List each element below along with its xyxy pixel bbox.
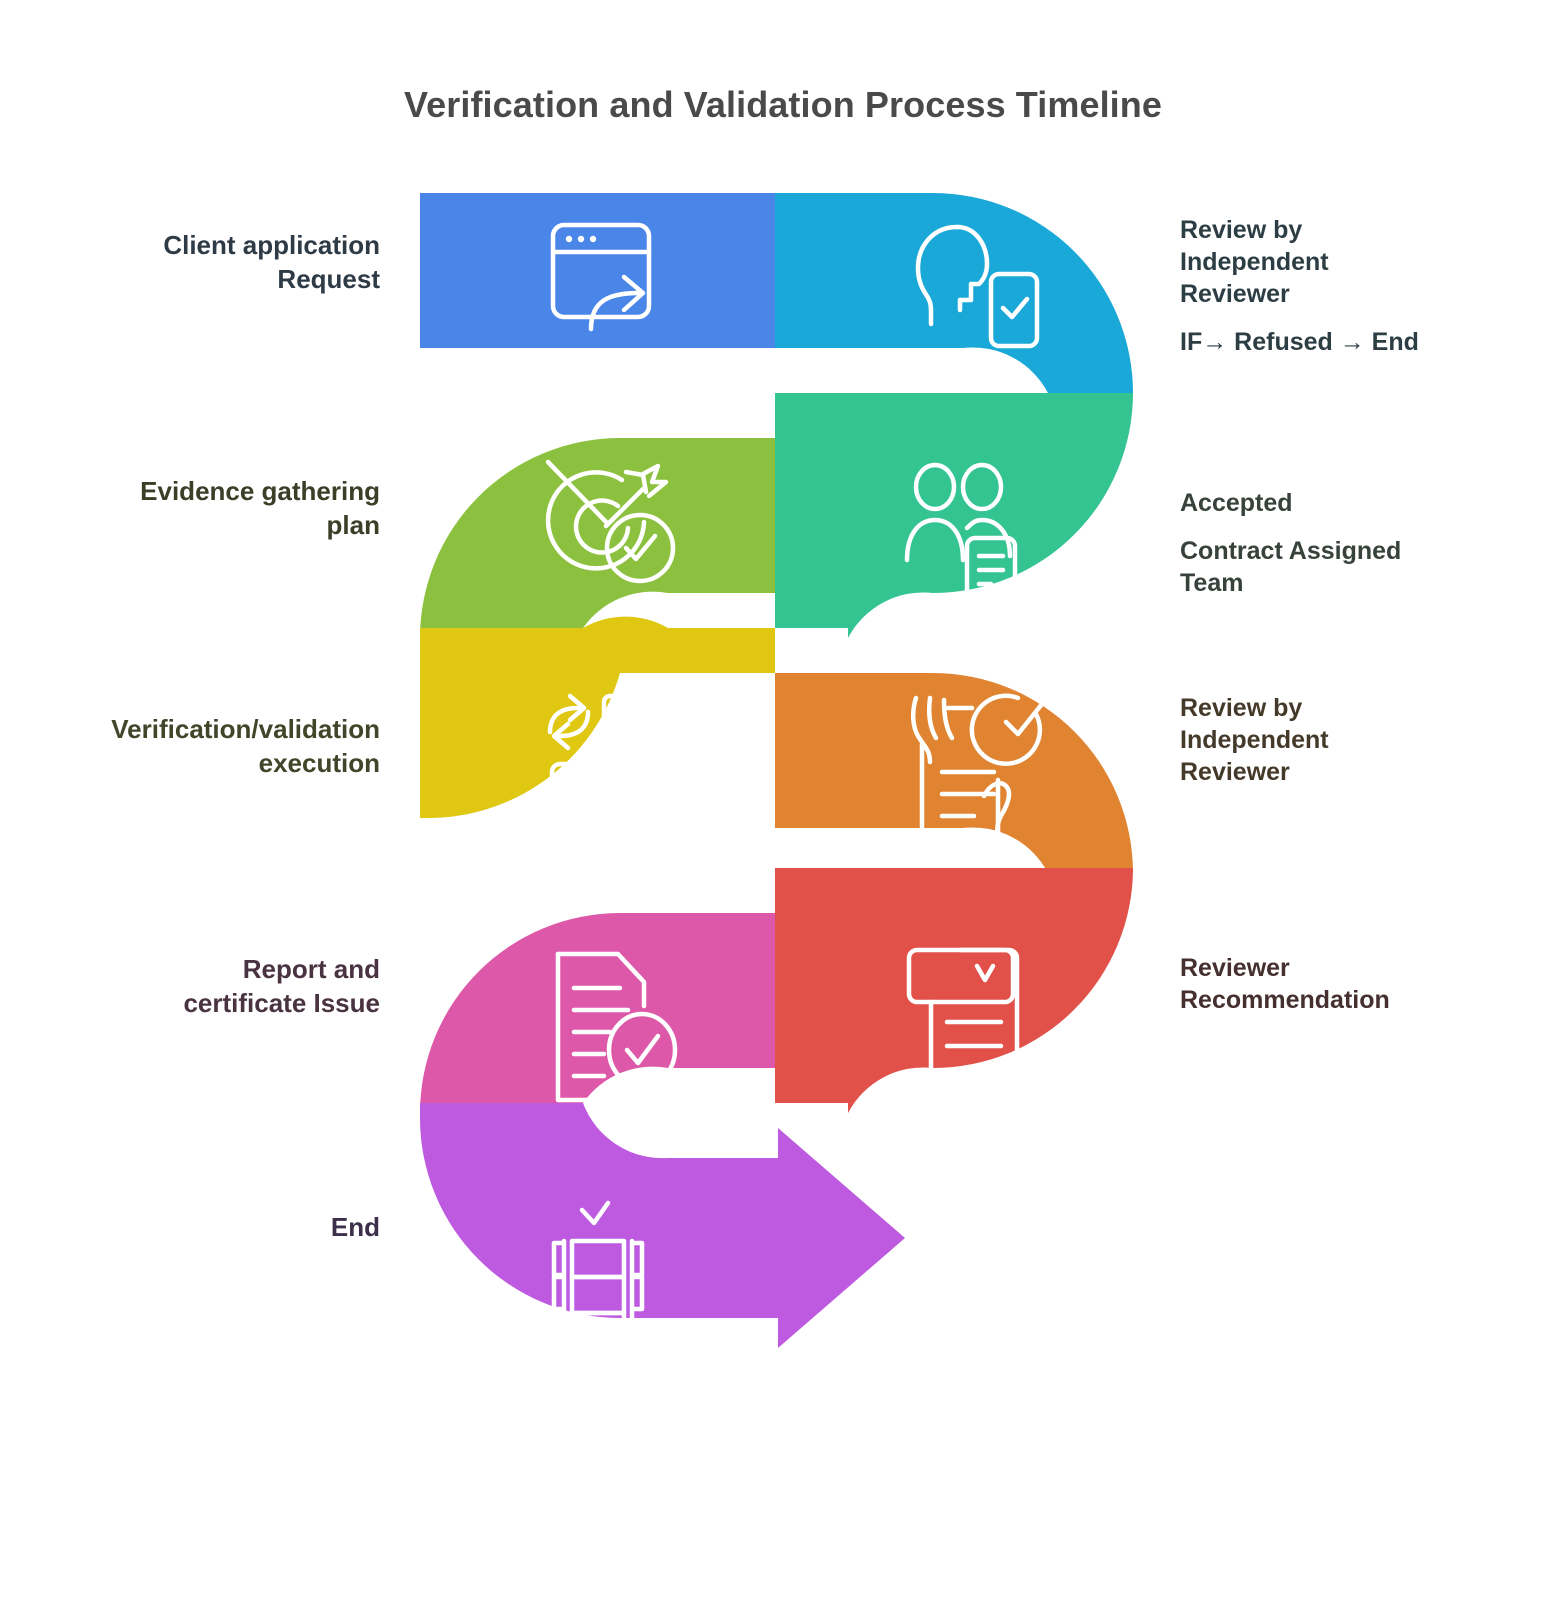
step-8-label-text: Reviewer Recommendation	[1180, 954, 1390, 1014]
transfer-spreadsheet-mobile-icon	[550, 696, 676, 850]
step-8-shape[interactable]	[775, 868, 1133, 1113]
diagram-canvas: Verification and Validation Process Time…	[0, 0, 1566, 1600]
step-3-label-text: Evidence gathering plan	[140, 476, 380, 539]
step-9-label-text: End	[331, 1212, 380, 1242]
step-2-label: Review by Independent Reviewer IF→ Refus…	[1180, 182, 1540, 390]
step-4-sublabel-text: Contract Assigned Team	[1180, 535, 1540, 599]
step-1-shape[interactable]	[420, 193, 775, 348]
step-2-shape[interactable]	[775, 193, 1133, 393]
step-1-label-text: Client application Request	[163, 230, 380, 293]
step-2-label-text: Review by Independent Reviewer	[1180, 216, 1329, 308]
step-5-label: Verification/validation execution	[20, 680, 380, 780]
step-1-label: Client application Request	[40, 196, 380, 296]
step-2-sublabel-text: IF→ Refused → End	[1180, 326, 1540, 358]
step-4-label: Accepted Contract Assigned Team	[1180, 455, 1540, 631]
step-9-label: End	[40, 1178, 380, 1245]
step-6-label: Review by Independent Reviewer	[1180, 660, 1540, 788]
step-8-label: Reviewer Recommendation	[1180, 920, 1560, 1016]
step-4-label-text: Accepted	[1180, 489, 1293, 517]
step-5-label-text: Verification/validation execution	[111, 714, 380, 777]
step-4-shape[interactable]	[775, 393, 1133, 638]
step-6-label-text: Review by Independent Reviewer	[1180, 694, 1329, 786]
step-3-shape[interactable]	[420, 438, 775, 638]
step-7-label-text: Report and certificate Issue	[183, 954, 380, 1017]
step-7-label: Report and certificate Issue	[40, 920, 380, 1020]
step-9-shape[interactable]	[420, 1103, 905, 1348]
step-3-label: Evidence gathering plan	[40, 442, 380, 542]
step-7-shape[interactable]	[420, 913, 775, 1113]
